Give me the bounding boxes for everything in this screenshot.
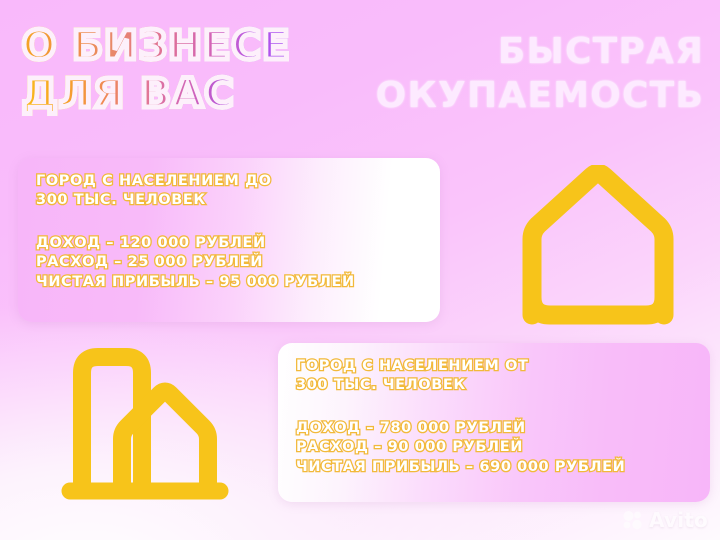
info-card-large-city: ГОРОД С НАСЕЛЕНИЕМ ОТ 300 ТЫС. ЧЕЛОВЕК Д… [278, 343, 710, 502]
card-content: ГОРОД С НАСЕЛЕНИЕМ ДО 300 ТЫС. ЧЕЛОВЕК Д… [36, 172, 430, 292]
card-title: ГОРОД С НАСЕЛЕНИЕМ ДО 300 ТЫС. ЧЕЛОВЕК [36, 172, 430, 210]
page-title-left-line2: ДЛЯ ВАС [22, 74, 235, 114]
card-metrics: ДОХОД – 780 000 РУБЛЕЙ РАСХОД – 90 000 Р… [296, 419, 700, 476]
page-title-right-line1: БЫСТРАЯ [498, 34, 704, 70]
metric-net-profit: ЧИСТАЯ ПРИБЫЛЬ – 95 000 РУБЛЕЙ [36, 273, 430, 292]
metric-expense: РАСХОД – 90 000 РУБЛЕЙ [296, 438, 700, 457]
metric-net-profit: ЧИСТАЯ ПРИБЫЛЬ – 690 000 РУБЛЕЙ [296, 458, 700, 477]
card-title-line1: ГОРОД С НАСЕЛЕНИЕМ ДО [36, 172, 430, 191]
card-metrics: ДОХОД – 120 000 РУБЛЕЙ РАСХОД – 25 000 Р… [36, 234, 430, 291]
page-title-left-line1: О БИЗНЕСЕ [22, 26, 291, 66]
metric-income: ДОХОД – 780 000 РУБЛЕЙ [296, 419, 700, 438]
page-title-right-line2: ОКУПАЕМОСТЬ [376, 78, 704, 114]
card-title-line2: 300 ТЫС. ЧЕЛОВЕК [36, 191, 430, 210]
info-card-small-city: ГОРОД С НАСЕЛЕНИЕМ ДО 300 ТЫС. ЧЕЛОВЕК Д… [18, 158, 440, 322]
card-content: ГОРОД С НАСЕЛЕНИЕМ ОТ 300 ТЫС. ЧЕЛОВЕК Д… [296, 357, 700, 477]
metric-income: ДОХОД – 120 000 РУБЛЕЙ [36, 234, 430, 253]
card-title-line1: ГОРОД С НАСЕЛЕНИЕМ ОТ [296, 357, 700, 376]
metric-expense: РАСХОД – 25 000 РУБЛЕЙ [36, 253, 430, 272]
card-title: ГОРОД С НАСЕЛЕНИЕМ ОТ 300 ТЫС. ЧЕЛОВЕК [296, 357, 700, 395]
city-buildings-icon [60, 345, 240, 503]
card-title-line2: 300 ТЫС. ЧЕЛОВЕК [296, 376, 700, 395]
slide-canvas: О БИЗНЕСЕ ДЛЯ ВАС БЫСТРАЯ ОКУПАЕМОСТЬ ГО… [0, 0, 720, 540]
avito-watermark: Avito [622, 508, 708, 532]
avito-watermark-text: Avito [649, 508, 708, 532]
avito-logo-icon [622, 509, 644, 531]
house-outline-icon [508, 165, 688, 325]
